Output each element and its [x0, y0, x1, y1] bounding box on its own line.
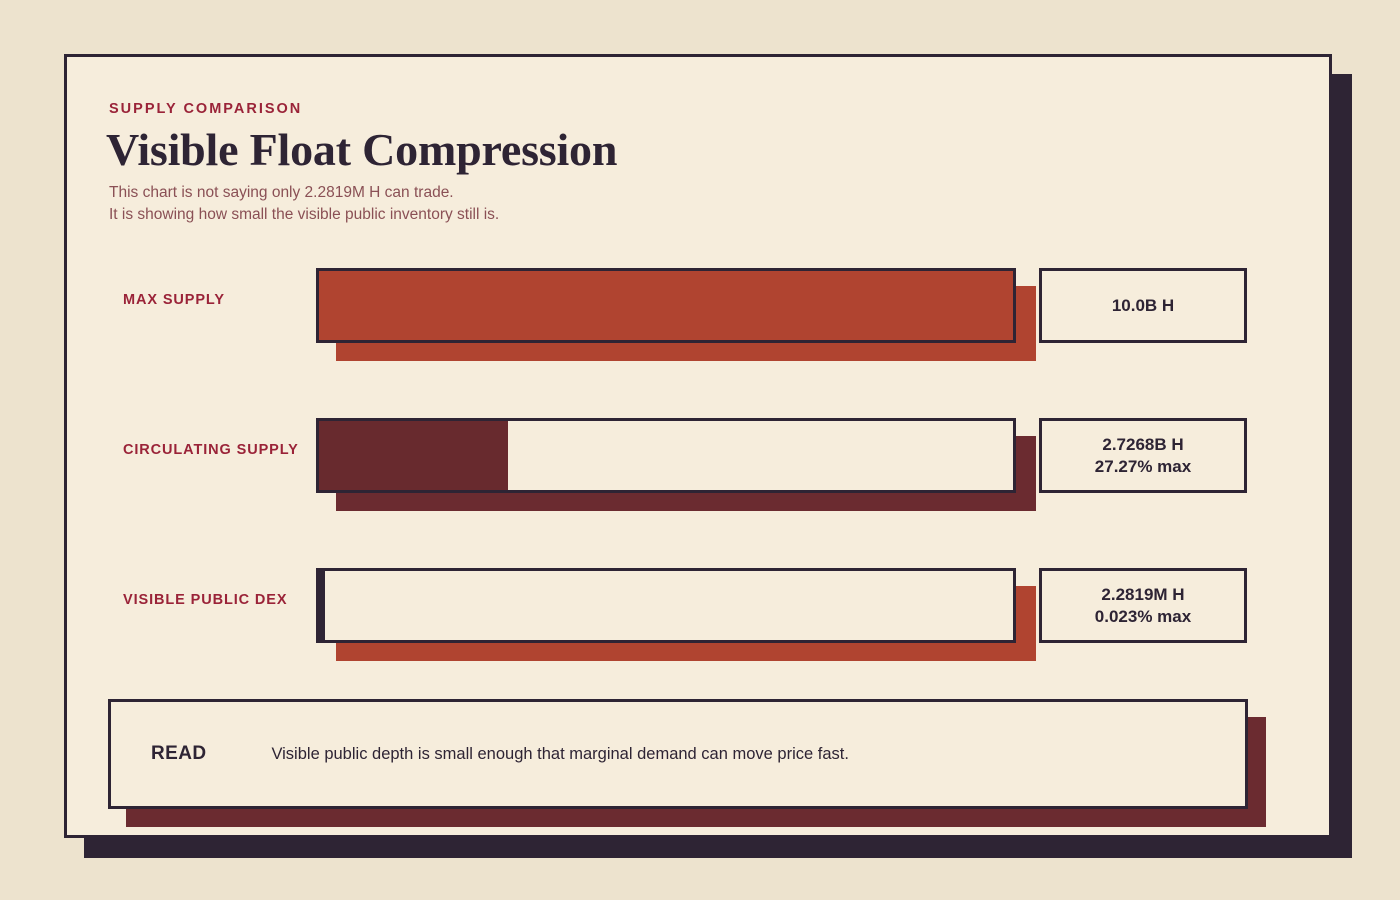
value-box-max-supply: 10.0B H	[1039, 268, 1247, 343]
bar-track-circulating-supply	[316, 418, 1016, 493]
bar-label-visible-public-dex: VISIBLE PUBLIC DEX	[123, 592, 287, 608]
value-sub-circulating-supply: 27.27% max	[1095, 456, 1191, 478]
supply-comparison-card: SUPPLY COMPARISON Visible Float Compress…	[64, 54, 1332, 838]
read-panel: READ Visible public depth is small enoug…	[108, 699, 1248, 809]
subtitle-line-1: This chart is not saying only 2.2819M H …	[109, 182, 499, 204]
bar-fill-circulating-supply	[319, 421, 508, 490]
bar-track-visible-public-dex	[316, 568, 1016, 643]
bar-label-max-supply: MAX SUPPLY	[123, 292, 225, 308]
chart-page: SUPPLY COMPARISON Visible Float Compress…	[0, 0, 1400, 900]
bar-track-max-supply	[316, 268, 1016, 343]
bar-fill-max-supply	[319, 271, 1013, 340]
read-tag-label: READ	[151, 743, 206, 765]
bar-row-circulating-supply: CIRCULATING SUPPLY 2.7268B H 27.27% max	[67, 408, 1329, 518]
bar-label-circulating-supply: CIRCULATING SUPPLY	[123, 442, 299, 458]
page-subtitle: This chart is not saying only 2.2819M H …	[109, 182, 499, 226]
value-box-circulating-supply: 2.7268B H 27.27% max	[1039, 418, 1247, 493]
subtitle-line-2: It is showing how small the visible publ…	[109, 204, 499, 226]
value-main-max-supply: 10.0B H	[1112, 295, 1174, 317]
value-box-visible-public-dex: 2.2819M H 0.023% max	[1039, 568, 1247, 643]
eyebrow-label: SUPPLY COMPARISON	[109, 101, 302, 117]
read-body-text: Visible public depth is small enough tha…	[271, 745, 849, 764]
value-sub-visible-public-dex: 0.023% max	[1095, 606, 1191, 628]
page-title: Visible Float Compression	[106, 123, 617, 176]
bar-row-max-supply: MAX SUPPLY 10.0B H	[67, 258, 1329, 368]
value-main-visible-public-dex: 2.2819M H	[1101, 584, 1184, 606]
bar-fill-visible-public-dex	[319, 571, 325, 640]
bar-row-visible-public-dex: VISIBLE PUBLIC DEX 2.2819M H 0.023% max	[67, 558, 1329, 668]
value-main-circulating-supply: 2.7268B H	[1102, 434, 1183, 456]
